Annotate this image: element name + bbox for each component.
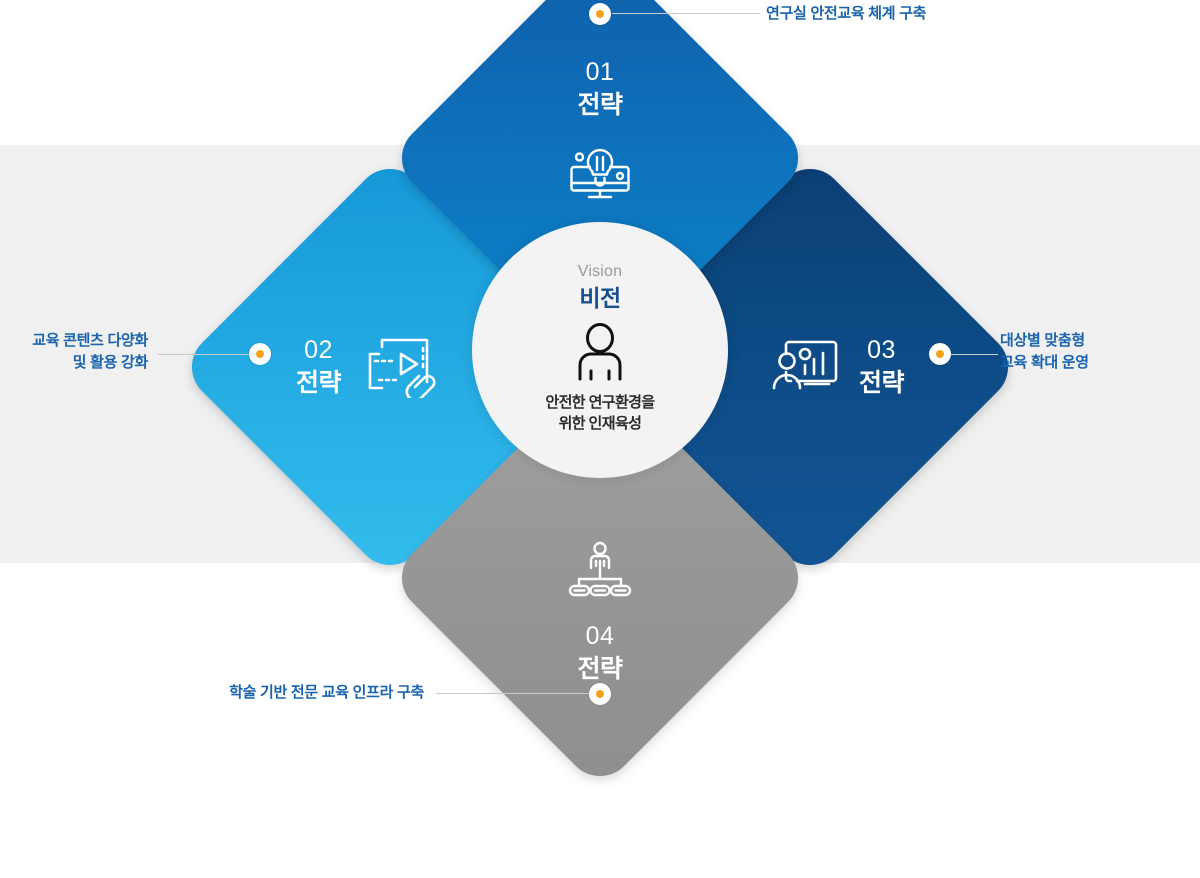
callout-label-01: 연구실 안전교육 체계 구축: [766, 3, 1006, 25]
person-icon: [573, 323, 627, 386]
strategy-01-label: 전략: [577, 88, 622, 122]
connector-dot-01[interactable]: [589, 3, 611, 25]
connector-dot-03[interactable]: [929, 343, 951, 365]
connector-line-02: [158, 354, 260, 355]
callout-label-02: 교육 콘텐츠 다양화 및 활용 강화: [0, 330, 148, 374]
connector-line-03: [950, 354, 998, 355]
vision-label-en: Vision: [578, 262, 623, 282]
video-attachment-icon: [359, 332, 437, 403]
presenter-chart-icon: [771, 334, 841, 401]
vision-label-ko: 비전: [579, 283, 620, 313]
connector-dot-04[interactable]: [589, 683, 611, 705]
strategy-03-label: 전략: [859, 366, 904, 400]
callout-label-03: 대상별 맞춤형 교육 확대 운영: [1000, 330, 1190, 374]
strategy-03-number: 03: [867, 334, 896, 366]
strategy-04-number: 04: [586, 620, 615, 652]
connector-dot-02[interactable]: [249, 343, 271, 365]
org-chart-icon: [567, 541, 633, 604]
strategy-01-number: 01: [586, 56, 615, 88]
strategy-02-label: 전략: [296, 366, 341, 400]
strategy-diagram: 02 전략: [0, 0, 1200, 708]
strategy-02-number: 02: [304, 334, 333, 366]
monitor-lightbulb-icon: [568, 140, 632, 207]
callout-label-04: 학술 기반 전문 교육 인프라 구축: [160, 682, 424, 704]
strategy-04-label: 전략: [577, 652, 622, 686]
connector-line-01: [612, 13, 760, 14]
vision-center: Vision 비전 안전한 연구환경을 위한 인재육성: [472, 222, 728, 478]
vision-description: 안전한 연구환경을 위한 인재육성: [545, 392, 654, 434]
connector-line-04: [436, 693, 590, 694]
